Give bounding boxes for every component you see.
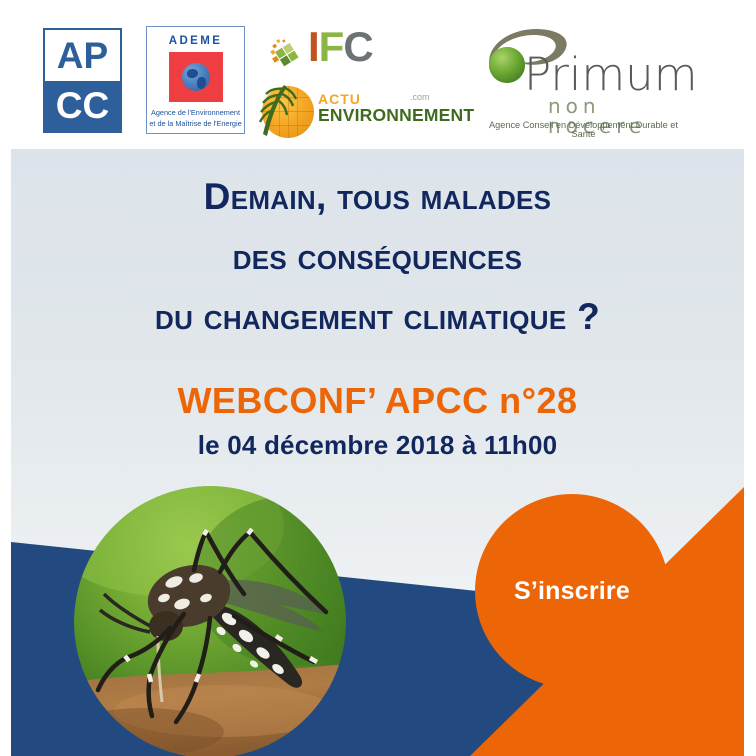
ifc-letter-f: F — [319, 23, 344, 70]
actu-word-environnement: ENVIRONNEMENT — [318, 106, 474, 124]
ifc-pixel-diamond-icon — [268, 34, 306, 70]
apcc-logo-top: AP — [45, 30, 120, 81]
orange-corner-wedge — [11, 149, 744, 756]
primum-wordmark: Primum — [524, 52, 698, 97]
ademe-red-square — [169, 52, 223, 102]
actu-environnement-logo: ACTU ENVIRONNEMENT .com — [262, 86, 452, 138]
ifc-letter-c: C — [343, 23, 372, 70]
apcc-logo: AP CC — [43, 28, 122, 133]
globe-icon — [182, 63, 210, 91]
apcc-logo-bottom: CC — [45, 81, 120, 132]
actu-domain-suffix: .com — [410, 92, 430, 102]
poster-main-panel: Demain, tous malades des conséquences du… — [11, 149, 744, 756]
ifc-wordmark: IFC — [308, 26, 373, 68]
actu-wordmark: ACTU ENVIRONNEMENT — [318, 92, 474, 124]
ademe-tagline-line2: et de la Maîtrise de l'Energie — [149, 119, 243, 130]
ademe-tagline-line1: Agence de l'Environnement — [149, 108, 243, 119]
primum-non-nocere-logo: Primum non nocere Agence Conseil en Déve… — [476, 24, 691, 136]
ifc-letter-i: I — [308, 23, 319, 70]
actu-word-actu: ACTU — [318, 92, 474, 106]
partner-logo-bar: AP CC ADEME Agence de l'Environnement et… — [0, 0, 756, 149]
ademe-tagline: Agence de l'Environnement et de la Maîtr… — [149, 108, 243, 129]
primum-tagline: Agence Conseil en Développement Durable … — [476, 121, 691, 139]
ademe-wordmark: ADEME — [169, 35, 223, 47]
ademe-logo: ADEME Agence de l'Environnement et de la… — [146, 26, 245, 134]
webinar-poster: AP CC ADEME Agence de l'Environnement et… — [0, 0, 756, 756]
palm-leaf-icon — [256, 82, 308, 140]
ifc-logo: IFC — [268, 30, 388, 74]
